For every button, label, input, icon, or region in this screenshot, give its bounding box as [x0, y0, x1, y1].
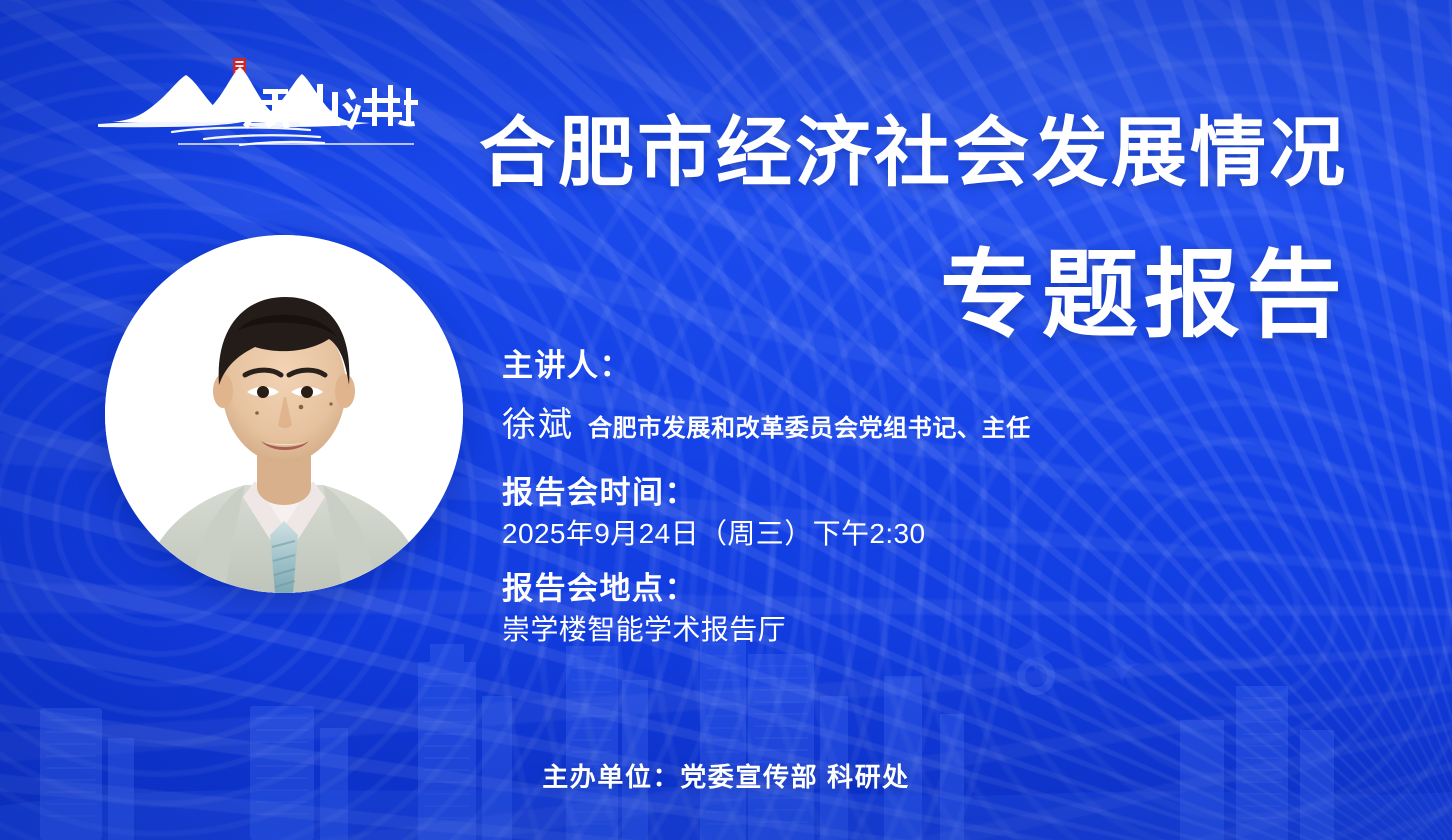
logo-english-name: CHAOHU UNIVERSITY — [178, 108, 335, 123]
speaker-name: 徐斌 — [502, 397, 574, 446]
venue-label: 报告会地点： — [502, 568, 1202, 610]
poster-canvas: CHAOHU UNIVERSITY 合肥市经济社会发展情况 专题报告 — [0, 0, 1452, 840]
speaker-row: 徐斌 合肥市发展和改革委员会党组书记、主任 — [502, 397, 1202, 446]
headline-line-2: 专题报告 — [479, 246, 1348, 346]
venue-value: 崇学楼智能学术报告厅 — [502, 610, 1202, 650]
time-label: 报告会时间： — [502, 472, 1202, 514]
speaker-label: 主讲人： — [502, 345, 1202, 387]
speaker-title: 合肥市发展和改革委员会党组书记、主任 — [588, 408, 1031, 443]
footer-block: 主办单位：党委宣传部 科研处 — [0, 757, 1452, 794]
time-value: 2025年9月24日（周三）下午2:30 — [502, 514, 1202, 554]
organizers-text: 主办单位：党委宣传部 科研处 — [542, 757, 910, 794]
headline-line-1: 合肥市经济社会发展情况 — [479, 112, 1348, 196]
chaohu-university-logo — [74, 52, 419, 150]
event-info-block: 主讲人： 徐斌 合肥市发展和改革委员会党组书记、主任 报告会时间： 2025年9… — [502, 345, 1202, 650]
speaker-portrait-avatar — [105, 235, 463, 593]
headline-block: 合肥市经济社会发展情况 专题报告 — [479, 112, 1348, 346]
